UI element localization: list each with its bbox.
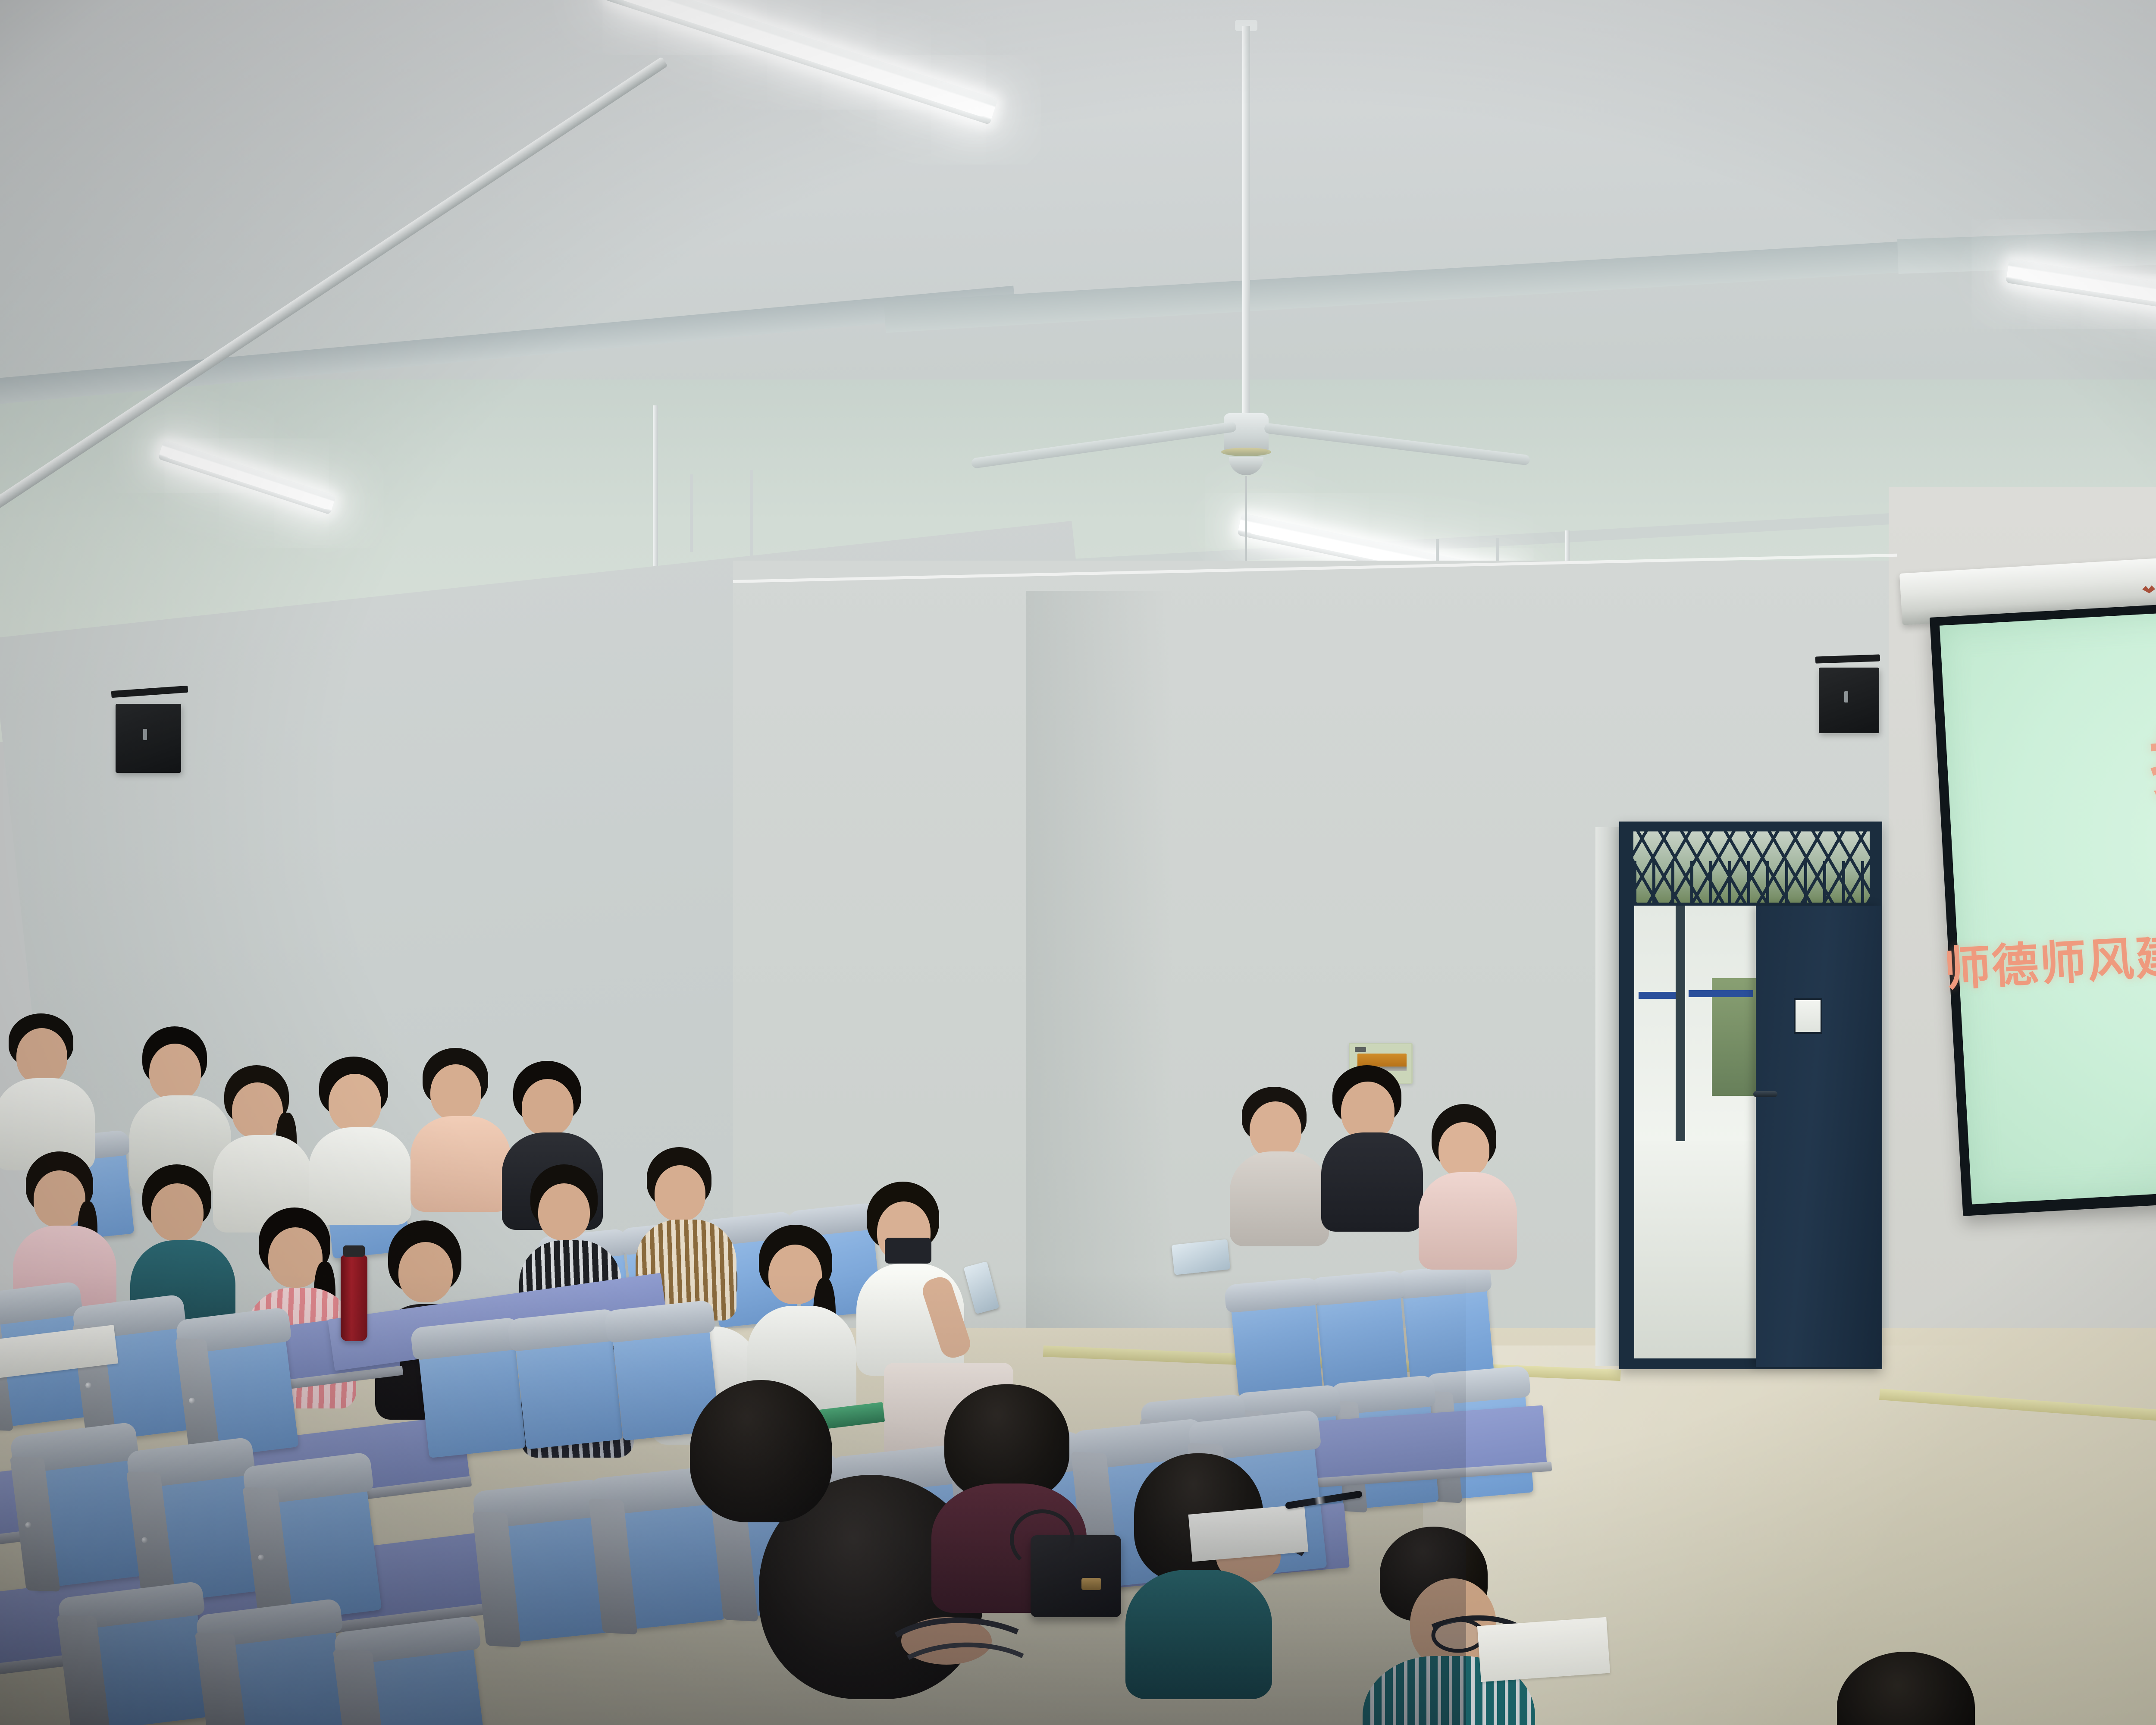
auditorium-chair[interactable] [17, 1430, 146, 1589]
corridor-beyond-door [1634, 906, 1764, 1358]
auditorium-chair[interactable] [1401, 1269, 1494, 1383]
auditorium-chair[interactable] [204, 1606, 348, 1725]
paper-sheet [1188, 1504, 1309, 1562]
auditorium-chair[interactable] [66, 1588, 210, 1725]
auditorium-chair[interactable] [1229, 1283, 1322, 1397]
auditorium-chair[interactable] [79, 1301, 193, 1442]
auditorium-chair[interactable] [1315, 1276, 1408, 1390]
water-bottle[interactable] [341, 1255, 367, 1341]
light-drop-wire [750, 470, 753, 556]
paper-sheet [1477, 1617, 1610, 1682]
door-leaf[interactable] [1756, 906, 1881, 1367]
auditorium-chair[interactable] [250, 1460, 382, 1624]
auditorium-chair[interactable] [134, 1445, 263, 1604]
door-handle[interactable] [1753, 1091, 1777, 1097]
ceiling-fan [1220, 26, 1272, 483]
door-vision-panel [1794, 998, 1822, 1034]
door-jamb [1595, 827, 1622, 1366]
auditorium-chair[interactable] [342, 1623, 486, 1725]
wall-speaker [1819, 668, 1879, 733]
threestars-logo-icon [2142, 583, 2155, 594]
projected-slide: 护理系 师德师风建设暨文明创建专题会 [1940, 590, 2156, 1204]
wall-speaker [116, 704, 181, 773]
face-mask [885, 1238, 931, 1264]
projection-screen: 护理系 师德师风建设暨文明创建专题会 [1930, 581, 2156, 1216]
screen-brand-label: ThreeStars [2142, 576, 2156, 596]
handbag[interactable] [1031, 1535, 1121, 1617]
auditorium-chair[interactable] [182, 1314, 299, 1459]
lecture-hall-photo: ThreeStars 护理系 师德师风建设暨文明创建专题会 [0, 0, 2156, 1725]
light-drop-wire [690, 474, 693, 552]
slide-subtitle: 师德师风建设暨文明创建专题会 [1943, 908, 2156, 996]
mobile-phone[interactable] [1172, 1239, 1231, 1275]
eyeglasses [888, 1613, 1031, 1703]
door-transom-lattice [1633, 831, 1870, 903]
slide-title: 护理系 [2147, 717, 2156, 804]
